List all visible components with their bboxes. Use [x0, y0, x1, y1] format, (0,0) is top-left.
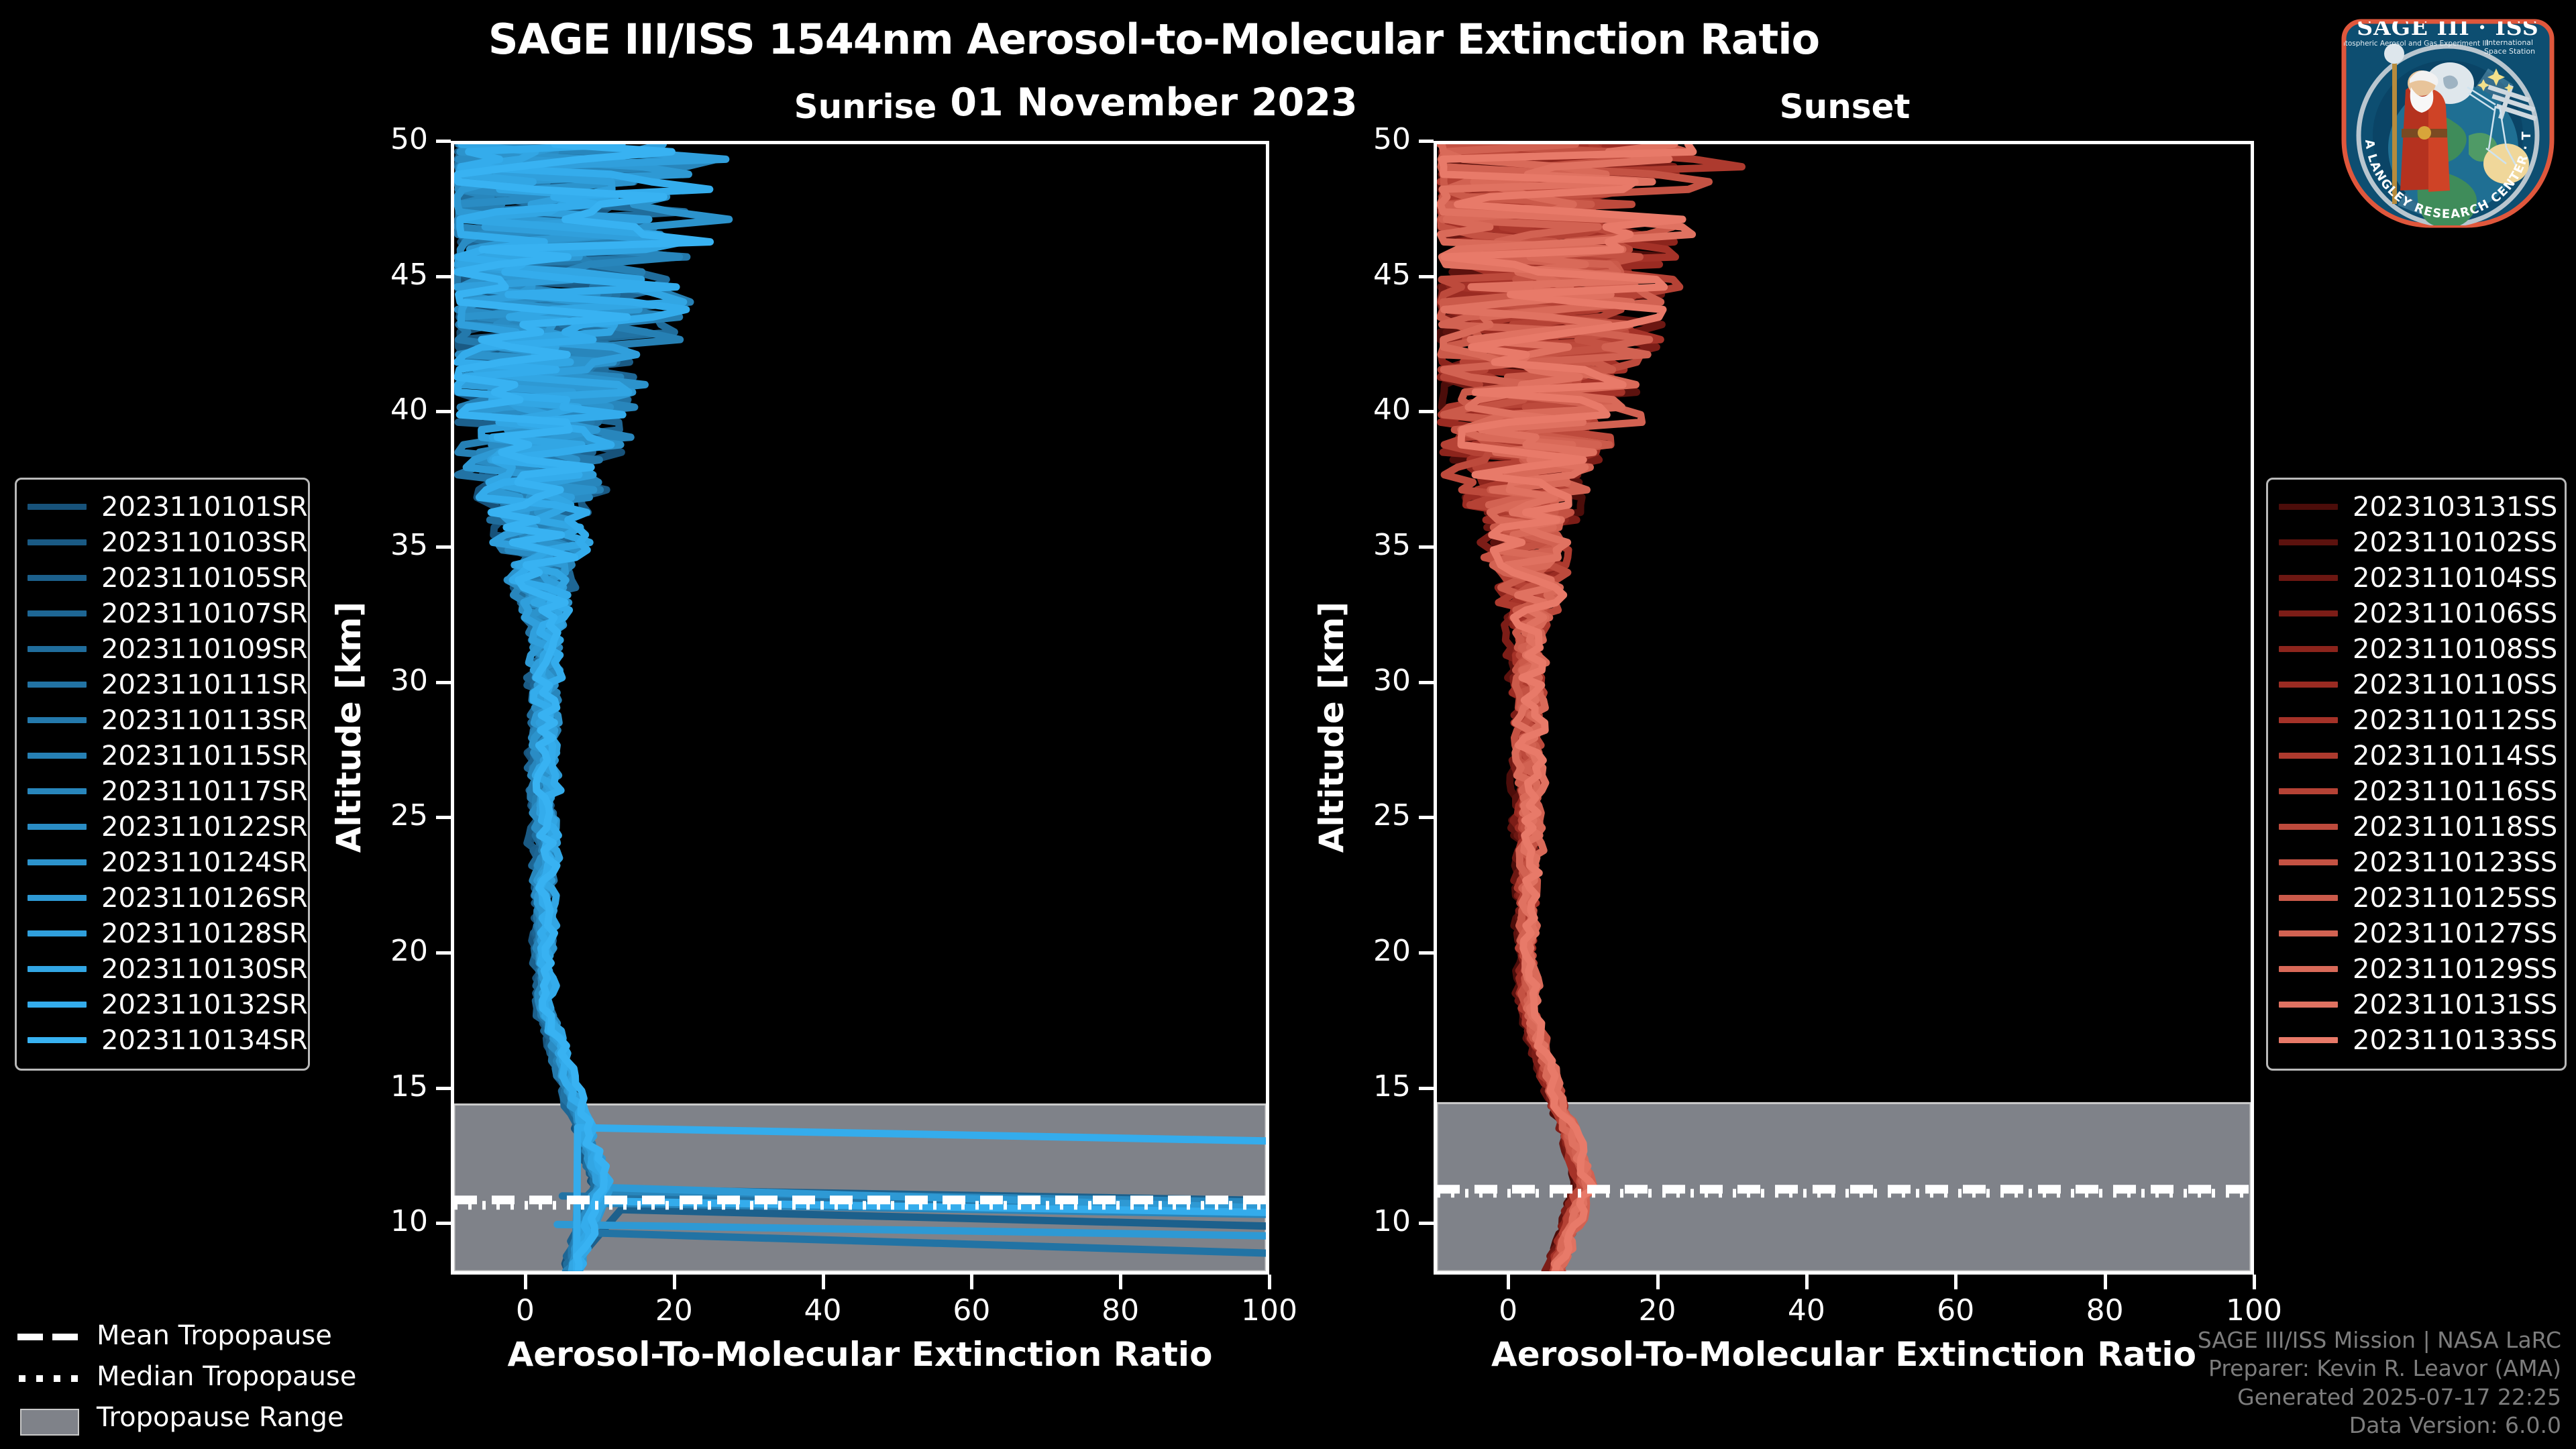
legend-color-swatch	[28, 859, 87, 865]
x-tick-mark	[673, 1275, 676, 1289]
svg-text:Stratospheric Aerosol and Gas: Stratospheric Aerosol and Gas Experiment…	[2330, 40, 2489, 48]
legend-item-2023110126SR[interactable]: 2023110126SR	[28, 880, 297, 916]
x-tick-label: 100	[1202, 1293, 1336, 1328]
legend-color-swatch	[28, 717, 87, 723]
legend-label: 2023110101SR	[101, 492, 308, 523]
legend-label: 2023110112SS	[2353, 705, 2557, 736]
y-tick-label: 35	[294, 528, 428, 562]
x-tick-label: 80	[2038, 1293, 2172, 1328]
legend-label: 2023110128SR	[101, 918, 308, 949]
legend-item-2023110105SR[interactable]: 2023110105SR	[28, 560, 297, 596]
x-tick-mark	[2253, 1275, 2256, 1289]
y-tick-label: 10	[294, 1204, 428, 1238]
legend-color-swatch	[28, 1037, 87, 1043]
legend-color-swatch	[2279, 646, 2338, 652]
y-tick-mark	[436, 951, 451, 955]
y-tick-label: 50	[294, 122, 428, 156]
legend-label: 2023110102SS	[2353, 527, 2557, 558]
legend-item-2023110122SR[interactable]: 2023110122SR	[28, 809, 297, 845]
legend-item-2023110104SS[interactable]: 2023110104SS	[2279, 560, 2554, 596]
legend-item-2023110127SS[interactable]: 2023110127SS	[2279, 916, 2554, 951]
legend-color-swatch	[28, 966, 87, 972]
x-tick-label: 60	[904, 1293, 1038, 1328]
legend-item-2023110102SS[interactable]: 2023110102SS	[2279, 525, 2554, 560]
sage-iii-iss-mission-patch-icon: SAGE III · ISS Stratospheric Aerosol and…	[2330, 4, 2565, 239]
y-tick-mark	[436, 140, 451, 143]
legend-item-2023110130SR[interactable]: 2023110130SR	[28, 951, 297, 987]
legend-label: 2023110115SR	[101, 741, 308, 771]
legend-label: 2023110116SS	[2353, 776, 2557, 807]
legend-label: 2023110134SR	[101, 1025, 308, 1056]
legend-color-swatch	[2279, 717, 2338, 723]
y-tick-mark	[1419, 140, 1434, 143]
y-tick-mark	[436, 275, 451, 278]
legend-item-2023110134SR[interactable]: 2023110134SR	[28, 1022, 297, 1058]
y-tick-label: 45	[1277, 258, 1411, 292]
legend-item-2023110114SS[interactable]: 2023110114SS	[2279, 738, 2554, 773]
legend-color-swatch	[28, 539, 87, 545]
legend-label: 2023110113SR	[101, 705, 308, 736]
legend-color-swatch	[2279, 895, 2338, 901]
y-tick-mark	[1419, 1087, 1434, 1090]
y-tick-label: 35	[1277, 528, 1411, 562]
legend-color-swatch	[28, 610, 87, 616]
legend-item-2023110131SS[interactable]: 2023110131SS	[2279, 987, 2554, 1022]
legend-color-swatch	[28, 895, 87, 901]
legend-color-swatch	[2279, 753, 2338, 759]
legend-label: 2023110124SR	[101, 847, 308, 878]
plot-canvas-sunrise	[454, 144, 1266, 1271]
x-tick-mark	[524, 1275, 527, 1289]
legend-color-swatch	[28, 1002, 87, 1008]
legend-item-median-tropopause[interactable]: Median Tropopause	[17, 1356, 366, 1397]
x-tick-mark	[970, 1275, 973, 1289]
legend-label: 2023110104SS	[2353, 563, 2557, 594]
legend-label: 2023110109SR	[101, 634, 308, 665]
y-tick-label: 50	[1277, 122, 1411, 156]
y-tick-mark	[436, 816, 451, 819]
legend-label-mean-tropopause: Mean Tropopause	[97, 1320, 332, 1351]
legend-label: 2023110114SS	[2353, 741, 2557, 771]
y-tick-mark	[436, 1087, 451, 1090]
legend-sunset-events[interactable]: 2023103131SS2023110102SS2023110104SS2023…	[2266, 478, 2567, 1071]
y-tick-mark	[1419, 951, 1434, 955]
legend-color-swatch	[2279, 539, 2338, 545]
x-tick-label: 100	[2187, 1293, 2321, 1328]
y-tick-mark	[436, 1222, 451, 1225]
legend-item-2023110123SS[interactable]: 2023110123SS	[2279, 845, 2554, 880]
legend-label: 2023110132SR	[101, 989, 308, 1020]
legend-color-swatch	[28, 682, 87, 688]
y-tick-mark	[1419, 275, 1434, 278]
credit-line-version: Data Version: 6.0.0	[2198, 1411, 2561, 1440]
legend-item-2023110111SR[interactable]: 2023110111SR	[28, 667, 297, 702]
x-tick-label: 0	[1441, 1293, 1575, 1328]
x-tick-label: 60	[1888, 1293, 2023, 1328]
legend-item-2023110101SR[interactable]: 2023110101SR	[28, 489, 297, 525]
legend-label: 2023110129SS	[2353, 954, 2557, 985]
x-tick-label: 0	[458, 1293, 592, 1328]
legend-label-tropopause-range: Tropopause Range	[97, 1402, 344, 1433]
x-tick-mark	[1656, 1275, 1660, 1289]
x-tick-mark	[1805, 1275, 1809, 1289]
legend-color-swatch	[2279, 1037, 2338, 1043]
x-tick-label: 40	[756, 1293, 890, 1328]
x-tick-label: 40	[1739, 1293, 1874, 1328]
y-axis-title-sunset: Altitude [km]	[1312, 586, 1351, 868]
panel-title-sunrise: Sunrise	[698, 87, 1033, 126]
legend-item-2023110133SS[interactable]: 2023110133SS	[2279, 1022, 2554, 1058]
legend-item-2023110117SR[interactable]: 2023110117SR	[28, 773, 297, 809]
legend-label: 2023103131SS	[2353, 492, 2557, 523]
legend-label: 2023110130SR	[101, 954, 308, 985]
legend-color-swatch	[28, 753, 87, 759]
x-tick-mark	[2104, 1275, 2107, 1289]
legend-item-2023110128SR[interactable]: 2023110128SR	[28, 916, 297, 951]
legend-item-2023110112SS[interactable]: 2023110112SS	[2279, 702, 2554, 738]
y-tick-mark	[1419, 410, 1434, 413]
x-tick-label: 80	[1053, 1293, 1187, 1328]
svg-text:Space Station: Space Station	[2484, 47, 2535, 56]
legend-item-tropopause-range[interactable]: Tropopause Range	[17, 1397, 366, 1438]
legend-label: 2023110122SR	[101, 812, 308, 843]
y-tick-mark	[436, 545, 451, 549]
legend-label: 2023110103SR	[101, 527, 308, 558]
credits-block: SAGE III/ISS Mission | NASA LaRC Prepare…	[2198, 1326, 2561, 1440]
y-tick-label: 15	[294, 1069, 428, 1104]
y-tick-label: 45	[294, 258, 428, 292]
y-tick-mark	[1419, 681, 1434, 684]
legend-item-2023110106SS[interactable]: 2023110106SS	[2279, 596, 2554, 631]
legend-color-swatch	[2279, 575, 2338, 581]
legend-item-2023110118SS[interactable]: 2023110118SS	[2279, 809, 2554, 845]
legend-item-2023110109SR[interactable]: 2023110109SR	[28, 631, 297, 667]
legend-item-2023110116SS[interactable]: 2023110116SS	[2279, 773, 2554, 809]
credit-line-mission: SAGE III/ISS Mission | NASA LaRC	[2198, 1326, 2561, 1354]
legend-item-2023110129SS[interactable]: 2023110129SS	[2279, 951, 2554, 987]
gray-patch-icon	[17, 1407, 82, 1428]
legend-label: 2023110127SS	[2353, 918, 2557, 949]
y-tick-mark	[1419, 816, 1434, 819]
legend-item-2023110125SS[interactable]: 2023110125SS	[2279, 880, 2554, 916]
legend-tropopause[interactable]: Mean Tropopause Median Tropopause Tropop…	[17, 1315, 366, 1438]
y-tick-mark	[436, 681, 451, 684]
legend-color-swatch	[28, 646, 87, 652]
legend-label: 2023110126SR	[101, 883, 308, 914]
legend-label-median-tropopause: Median Tropopause	[97, 1361, 356, 1392]
x-tick-mark	[1954, 1275, 1957, 1289]
legend-color-swatch	[2279, 930, 2338, 936]
legend-color-swatch	[2279, 859, 2338, 865]
y-tick-label: 15	[1277, 1069, 1411, 1104]
x-axis-title-sunset: Aerosol-To-Molecular Extinction Ratio	[1434, 1335, 2254, 1374]
credit-line-preparer: Preparer: Kevin R. Leavor (AMA)	[2198, 1354, 2561, 1383]
legend-label: 2023110123SS	[2353, 847, 2557, 878]
legend-item-2023110107SR[interactable]: 2023110107SR	[28, 596, 297, 631]
dotted-line-icon	[17, 1366, 82, 1387]
y-tick-label: 20	[1277, 934, 1411, 968]
x-tick-label: 20	[607, 1293, 741, 1328]
panel-title-sunset: Sunset	[1677, 87, 2012, 126]
legend-color-swatch	[28, 788, 87, 794]
legend-label: 2023110108SS	[2353, 634, 2557, 665]
y-axis-title-sunrise: Altitude [km]	[329, 586, 368, 868]
legend-label: 2023110118SS	[2353, 812, 2557, 843]
page-title: SAGE III/ISS 1544nm Aerosol-to-Molecular…	[0, 15, 2308, 64]
legend-label: 2023110110SS	[2353, 669, 2557, 700]
y-tick-label: 40	[294, 392, 428, 427]
credit-line-generated: Generated 2025-07-17 22:25	[2198, 1383, 2561, 1411]
legend-item-mean-tropopause[interactable]: Mean Tropopause	[17, 1315, 366, 1356]
legend-item-2023110113SR[interactable]: 2023110113SR	[28, 702, 297, 738]
legend-label: 2023110105SR	[101, 563, 308, 594]
legend-label: 2023110131SS	[2353, 989, 2557, 1020]
legend-color-swatch	[28, 930, 87, 936]
plot-canvas-sunset	[1437, 144, 2251, 1271]
y-tick-label: 10	[1277, 1204, 1411, 1238]
y-tick-mark	[436, 410, 451, 413]
x-tick-label: 20	[1591, 1293, 1725, 1328]
legend-color-swatch	[2279, 682, 2338, 688]
x-tick-mark	[1268, 1275, 1271, 1289]
x-axis-title-sunrise: Aerosol-To-Molecular Extinction Ratio	[451, 1335, 1269, 1374]
legend-color-swatch	[28, 575, 87, 581]
legend-item-2023110124SR[interactable]: 2023110124SR	[28, 845, 297, 880]
legend-item-2023110132SR[interactable]: 2023110132SR	[28, 987, 297, 1022]
legend-item-2023110110SS[interactable]: 2023110110SS	[2279, 667, 2554, 702]
x-tick-mark	[1507, 1275, 1510, 1289]
legend-label: 2023110117SR	[101, 776, 308, 807]
legend-color-swatch	[2279, 824, 2338, 830]
legend-color-swatch	[2279, 504, 2338, 510]
x-tick-mark	[1119, 1275, 1122, 1289]
dashed-line-icon	[17, 1326, 82, 1346]
svg-text:SAGE III · ISS: SAGE III · ISS	[2357, 14, 2538, 40]
legend-sunrise-events[interactable]: 2023110101SR2023110103SR2023110105SR2023…	[15, 478, 310, 1071]
y-tick-label: 40	[1277, 392, 1411, 427]
y-tick-label: 20	[294, 934, 428, 968]
legend-color-swatch	[28, 824, 87, 830]
svg-text:International: International	[2486, 38, 2533, 47]
legend-item-2023110103SR[interactable]: 2023110103SR	[28, 525, 297, 560]
legend-label: 2023110133SS	[2353, 1025, 2557, 1056]
legend-item-2023103131SS[interactable]: 2023103131SS	[2279, 489, 2554, 525]
legend-color-swatch	[28, 504, 87, 510]
legend-color-swatch	[2279, 966, 2338, 972]
plot-area-sunset[interactable]	[1434, 141, 2254, 1275]
legend-label: 2023110106SS	[2353, 598, 2557, 629]
legend-item-2023110115SR[interactable]: 2023110115SR	[28, 738, 297, 773]
x-tick-mark	[822, 1275, 825, 1289]
y-tick-mark	[1419, 545, 1434, 549]
y-tick-mark	[1419, 1222, 1434, 1225]
legend-label: 2023110111SR	[101, 669, 308, 700]
plot-area-sunrise[interactable]	[451, 141, 1269, 1275]
legend-label: 2023110125SS	[2353, 883, 2557, 914]
legend-color-swatch	[2279, 610, 2338, 616]
legend-color-swatch	[2279, 788, 2338, 794]
legend-color-swatch	[2279, 1002, 2338, 1008]
legend-item-2023110108SS[interactable]: 2023110108SS	[2279, 631, 2554, 667]
legend-label: 2023110107SR	[101, 598, 308, 629]
